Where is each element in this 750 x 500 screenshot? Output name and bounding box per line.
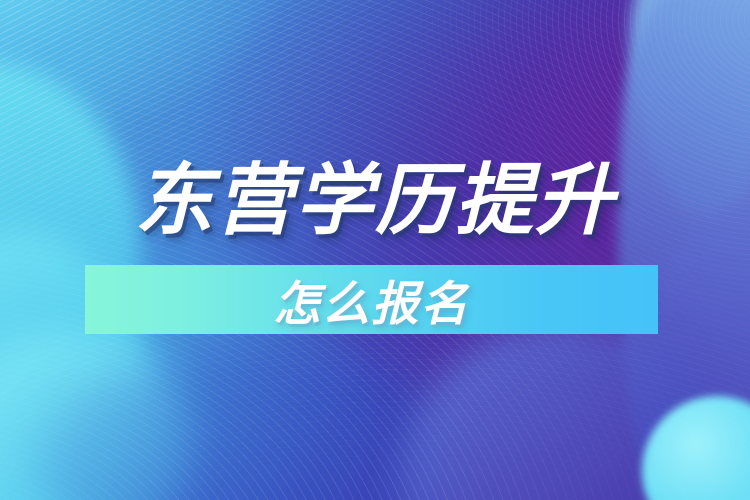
banner-headline: 东营学历提升 [0, 152, 750, 248]
banner-content: 东营学历提升 怎么报名 [0, 0, 750, 500]
banner-subtitle: 怎么报名 [85, 265, 658, 334]
promo-banner: 东营学历提升 怎么报名 [0, 0, 750, 500]
